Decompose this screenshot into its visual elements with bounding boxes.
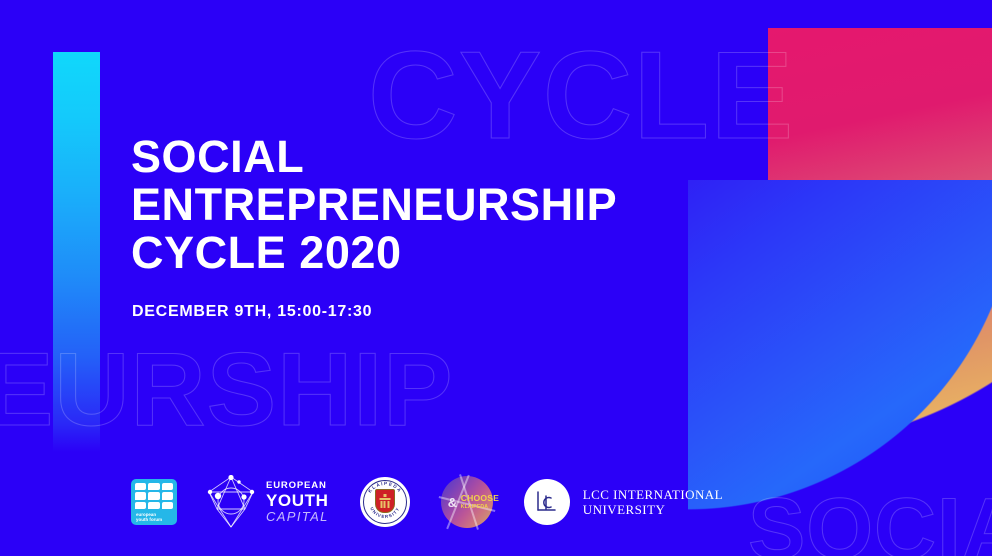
logo-choose-klaipeda: & CHOOSE KLAIPEDA [441, 476, 493, 528]
speech-bubble-icon [135, 483, 146, 490]
lcc-wordmark-line-1: LCC INTERNATIONAL [583, 487, 723, 502]
speech-bubble-icon [162, 502, 173, 509]
eyf-wordmark-line-2: youth forum [135, 517, 173, 522]
speech-bubble-icon [148, 483, 159, 490]
ck-wordmark-line-2: KLAIPEDA [461, 505, 499, 510]
speech-bubble-icon [162, 483, 173, 490]
lcc-logo-disc [524, 479, 570, 525]
choose-klaipeda-wordmark: CHOOSE KLAIPEDA [461, 494, 499, 510]
eyc-wordmark-line-1: EUROPEAN [266, 481, 329, 491]
logo-klaipeda-university: KLAIPEDA UNIVERSITY [360, 477, 410, 527]
lcc-wordmark: LCC INTERNATIONAL UNIVERSITY [583, 487, 723, 517]
speech-bubble-icon [135, 492, 146, 499]
eyc-wordmark: EUROPEAN YOUTH CAPITAL [266, 481, 329, 523]
headline-line-2: ENTREPRENEURSHIP [131, 181, 691, 229]
speech-bubble-icon [162, 492, 173, 499]
headline-line-1: SOCIAL [131, 133, 691, 181]
eyc-wordmark-line-2: YOUTH [266, 492, 329, 509]
ck-wordmark-line-1: CHOOSE [461, 494, 499, 503]
speech-bubble-icon [148, 502, 159, 509]
speech-bubble-grid-icon [135, 483, 173, 509]
event-date-time: DECEMBER 9TH, 15:00-17:30 [132, 303, 372, 321]
blue-quarter-circle-shape [688, 180, 992, 510]
crest-shield-icon [375, 489, 395, 513]
headline-line-3: CYCLE 2020 [131, 229, 691, 277]
event-poster: CYCLE EURSHIP SOCIA SOCIAL ENTREPRENEURS… [0, 0, 992, 556]
choose-klaipeda-monogram-icon: & [448, 496, 457, 509]
lcc-wordmark-line-2: UNIVERSITY [583, 502, 723, 517]
eyc-wordmark-line-3: CAPITAL [266, 510, 329, 523]
diamond-gem-network-icon [205, 475, 257, 529]
european-youth-forum-icon: european youth forum [131, 479, 177, 525]
watermark-eurship: EURSHIP [0, 338, 454, 442]
logo-european-youth-forum: european youth forum [131, 474, 177, 530]
crest-tower-icon [379, 494, 390, 508]
headline-block: SOCIAL ENTREPRENEURSHIP CYCLE 2020 [131, 133, 691, 277]
speech-bubble-icon [135, 502, 146, 509]
lcc-monogram-icon [535, 490, 559, 514]
partner-logo-strip: european youth forum [131, 472, 723, 532]
watermark-socia: SOCIA [748, 486, 992, 556]
speech-bubble-icon [148, 492, 159, 499]
logo-european-youth-capital: EUROPEAN YOUTH CAPITAL [205, 474, 329, 530]
logo-lcc-international-university: LCC INTERNATIONAL UNIVERSITY [524, 474, 723, 530]
